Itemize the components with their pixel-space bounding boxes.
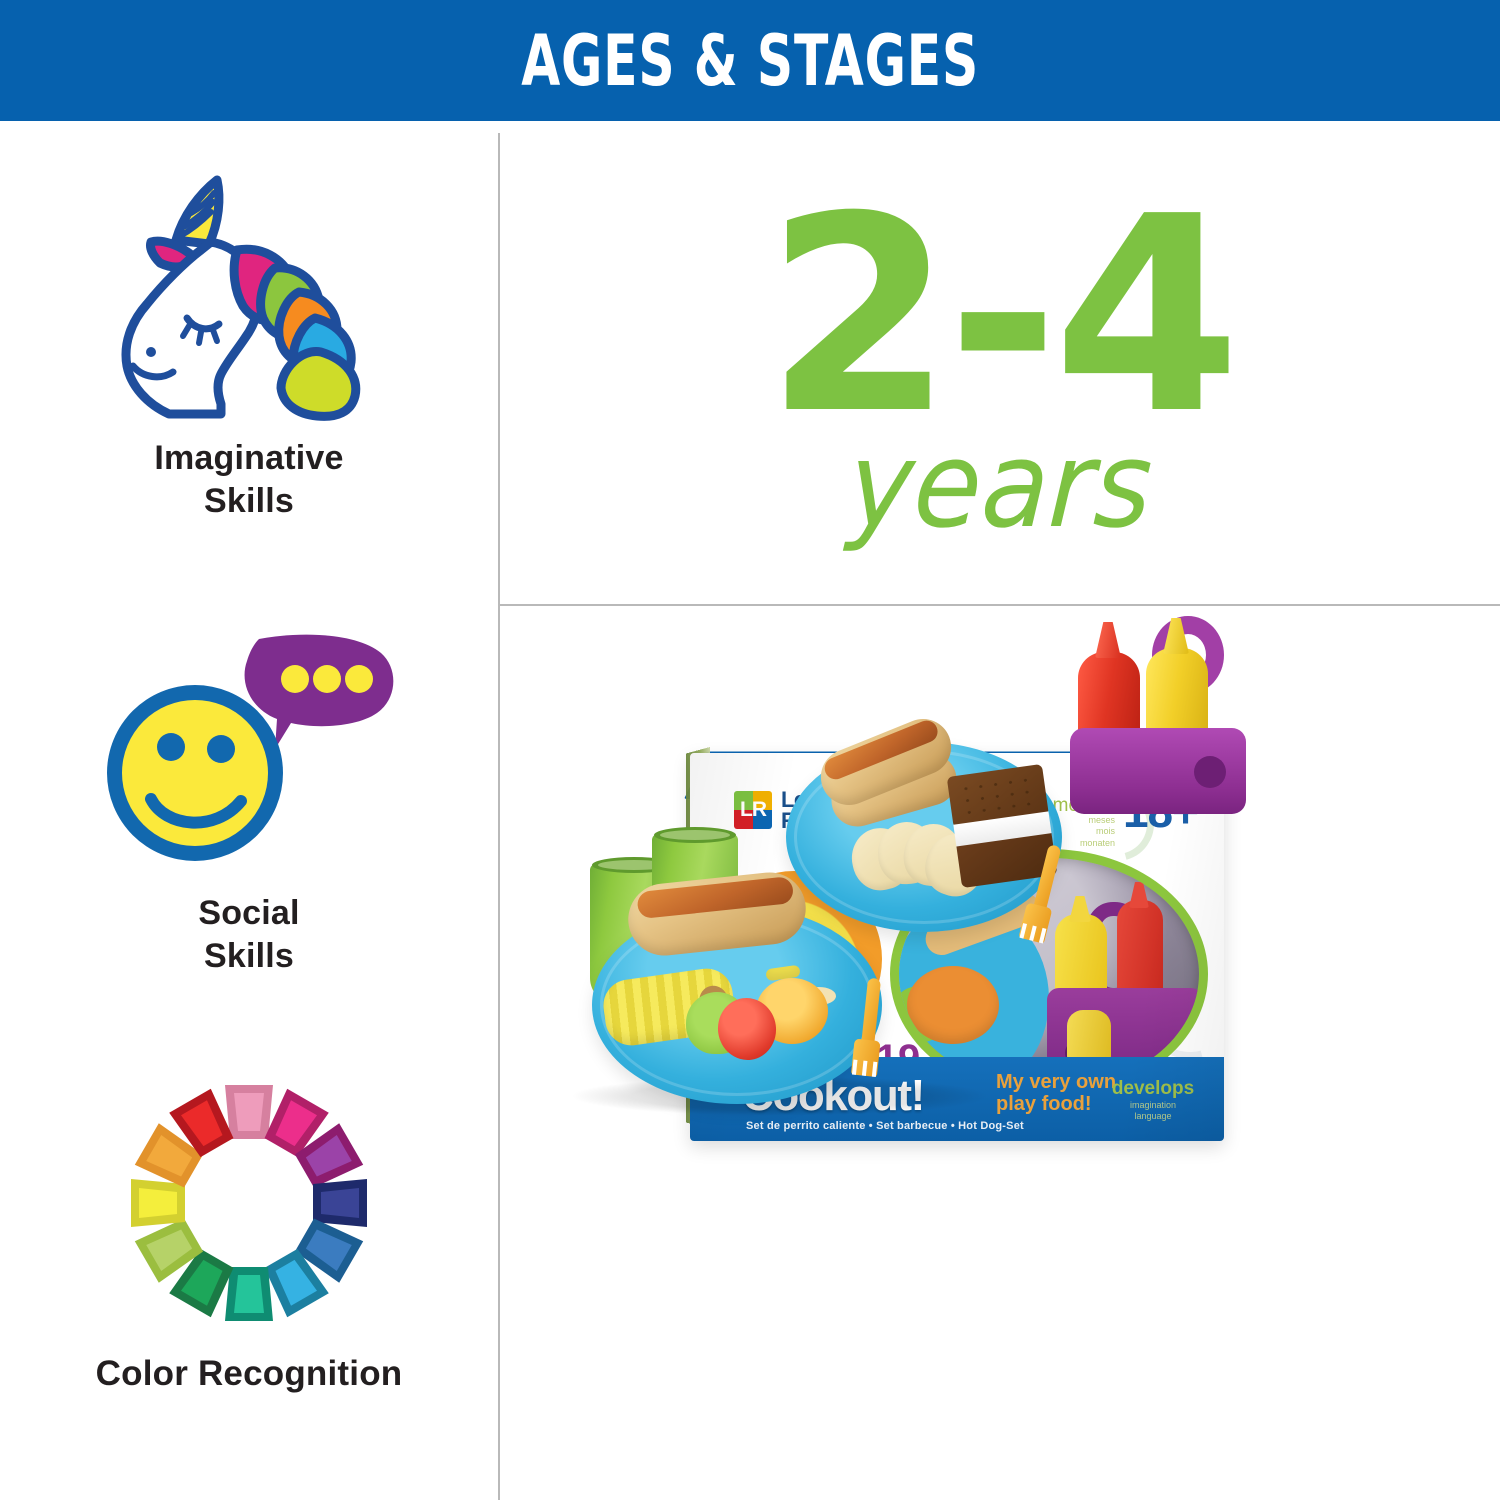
skill-color-recognition-label: Color Recognition <box>96 1352 403 1396</box>
age-range-panel: 2-4 years <box>500 133 1500 604</box>
window-mustard-bottle-2 <box>1067 1010 1111 1076</box>
window-caddy-handle <box>1087 902 1141 1002</box>
skill-color-recognition: Color Recognition <box>0 1066 498 1396</box>
box-front-develops-badge: develops imagination language <box>1098 1078 1208 1123</box>
window-lettuce <box>891 986 947 1042</box>
develops-label: develops <box>1098 1078 1208 1100</box>
window-burger-patty <box>907 966 999 1044</box>
box-front-tagline: My very own play food! <box>996 1071 1116 1116</box>
skill-social-label-line1: Social <box>198 892 299 935</box>
page-title: AGES & STAGES <box>521 20 979 102</box>
skill-social-label: Social Skills <box>198 892 299 977</box>
skill-imaginative: Imaginative Skills <box>0 166 498 522</box>
window-condiment-caddy <box>1047 988 1203 1072</box>
skill-social: Social Skills <box>0 621 498 977</box>
skill-imaginative-label: Imaginative Skills <box>154 437 343 522</box>
caddy-body <box>1070 728 1246 814</box>
skill-imaginative-label-line2: Skills <box>154 480 343 523</box>
skills-column: Imaginative Skills <box>0 121 498 1500</box>
develops-line2: language <box>1098 1111 1208 1123</box>
decorative-swirl-icon <box>1124 945 1224 1076</box>
product-photo-panel: LR Learning Resources new sprouts Cookou… <box>500 606 1500 1500</box>
skill-social-label-line2: Skills <box>198 935 299 978</box>
tagline-line1: My very own <box>996 1071 1116 1093</box>
color-wheel-icon <box>99 1066 399 1336</box>
tagline-line2: play food! <box>996 1093 1116 1115</box>
age-range-value: 2-4 <box>765 197 1235 435</box>
skill-imaginative-label-line1: Imaginative <box>154 437 343 480</box>
smiley-speech-bubble-icon <box>99 621 399 876</box>
window-ketchup-bottle <box>1117 900 1163 998</box>
age-range-unit: years <box>846 426 1155 545</box>
box-front-multilingual: Set de perrito caliente • Set barbecue •… <box>746 1120 1024 1132</box>
page-header-banner: AGES & STAGES <box>0 0 1500 121</box>
unicorn-icon <box>99 166 399 421</box>
lr-cube-letters: LR <box>734 791 772 829</box>
develops-line1: imagination <box>1098 1100 1208 1112</box>
age-label-fr: mois <box>1053 826 1115 837</box>
smiley-face-shape <box>107 685 283 861</box>
condiment-caddy <box>1060 616 1250 826</box>
lr-cube-icon: LR <box>734 791 772 829</box>
window-mustard-bottle <box>1055 914 1107 1022</box>
